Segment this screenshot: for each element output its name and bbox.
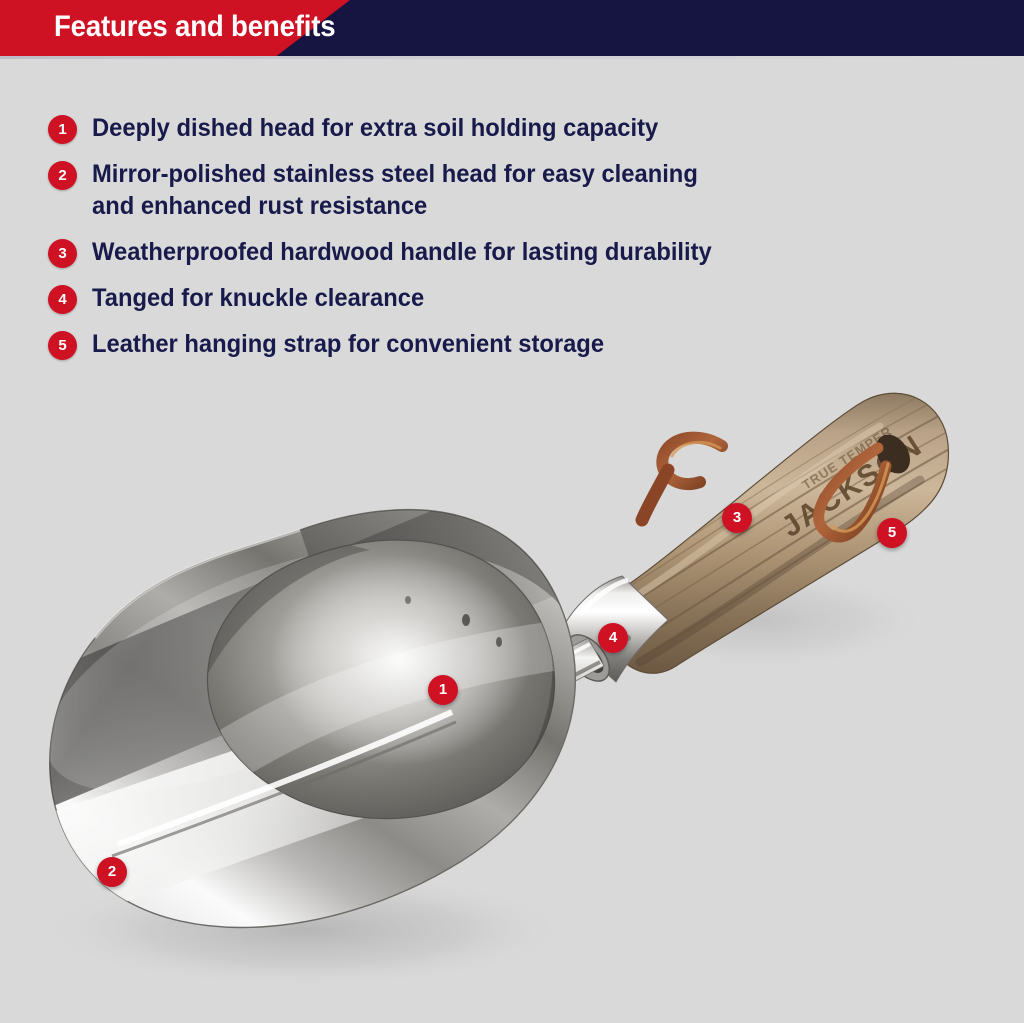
feature-badge-5: 5 [48, 331, 77, 360]
infographic-page: Features and benefits 1 Deeply dished he… [0, 0, 1024, 1023]
feature-badge-3: 3 [48, 239, 77, 268]
list-item: 2 Mirror-polished stainless steel head f… [48, 158, 908, 222]
header-bar: Features and benefits [0, 0, 1024, 56]
list-item: 5 Leather hanging strap for convenient s… [48, 328, 908, 360]
callout-badge-3: 3 [722, 503, 752, 533]
scoop-head [0, 440, 640, 946]
feature-text-4: Tanged for knuckle clearance [92, 282, 424, 314]
feature-text-5: Leather hanging strap for convenient sto… [92, 328, 604, 360]
feature-badge-1: 1 [48, 115, 77, 144]
header-underline [0, 56, 1024, 59]
feature-text-2: Mirror-polished stainless steel head for… [92, 158, 700, 222]
features-list: 1 Deeply dished head for extra soil hold… [48, 112, 908, 374]
product-image: JACKSON TRUE TEMPER [0, 370, 1024, 1010]
callout-badge-5: 5 [877, 518, 907, 548]
feature-badge-2: 2 [48, 161, 77, 190]
list-item: 3 Weatherproofed hardwood handle for las… [48, 236, 908, 268]
feature-badge-4: 4 [48, 285, 77, 314]
feature-text-3: Weatherproofed hardwood handle for lasti… [92, 236, 712, 268]
callout-badge-1: 1 [428, 675, 458, 705]
list-item: 4 Tanged for knuckle clearance [48, 282, 908, 314]
feature-text-1: Deeply dished head for extra soil holdin… [92, 112, 658, 144]
list-item: 1 Deeply dished head for extra soil hold… [48, 112, 908, 144]
page-title: Features and benefits [54, 0, 335, 56]
callout-badge-2: 2 [97, 857, 127, 887]
callout-badge-4: 4 [598, 623, 628, 653]
